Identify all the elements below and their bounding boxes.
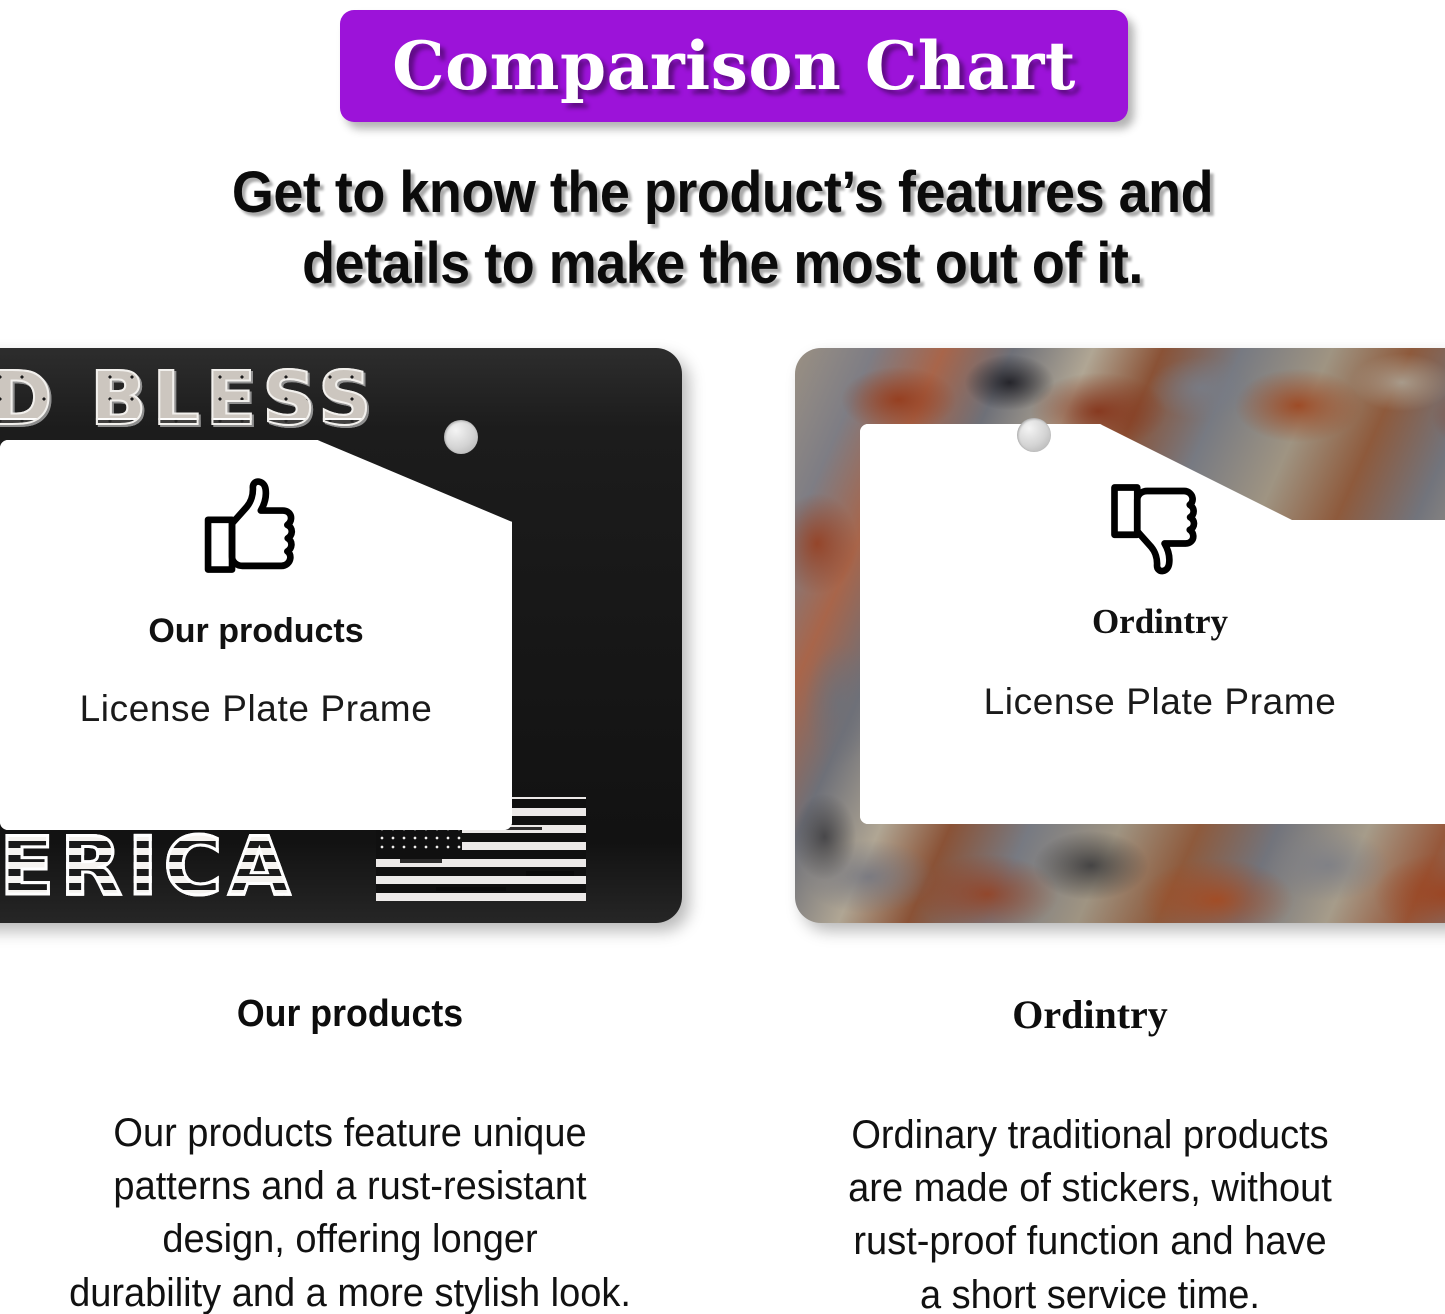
our-product-plate-panel: OD BLESS MERICA Our products xyxy=(0,348,682,923)
page-title: Comparison Chart xyxy=(392,33,1076,99)
plate-window-product-left: License Plate Prame xyxy=(80,690,433,727)
caption-body-left: Our products feature unique patterns and… xyxy=(18,1107,683,1314)
caption-line: are made of stickers, without xyxy=(753,1162,1428,1215)
subtitle-line-2: details to make the most out of it. xyxy=(51,229,1395,300)
thumbs-up-icon xyxy=(197,470,315,588)
comparison-chart-banner: Comparison Chart xyxy=(340,10,1128,122)
flag-scuff xyxy=(400,859,442,863)
plate-window-product-right: License Plate Prame xyxy=(984,683,1337,720)
plate-bottom-lettering: MERICA xyxy=(0,827,296,907)
plate-window-left: Our products License Plate Prame xyxy=(0,440,512,830)
flag-scuff xyxy=(526,871,574,876)
caption-heading-left: Our products xyxy=(21,995,679,1033)
ordinary-product-plate-panel: Ordintry License Plate Prame xyxy=(795,348,1445,923)
license-plate-frame-black: OD BLESS MERICA Our products xyxy=(0,348,682,923)
mounting-hole-icon xyxy=(444,420,478,454)
caption-body-right: Ordinary traditional products are made o… xyxy=(753,1109,1428,1314)
our-products-caption: Our products Our products feature unique… xyxy=(0,995,700,1314)
caption-line: Ordinary traditional products xyxy=(753,1109,1428,1162)
plate-top-lettering: OD BLESS xyxy=(0,362,377,436)
caption-heading-right: Ordintry xyxy=(735,995,1445,1035)
mounting-hole-icon xyxy=(1017,418,1051,452)
flag-scuff xyxy=(436,887,506,891)
thumbs-down-icon xyxy=(1104,470,1216,582)
caption-line: patterns and a rust-resistant xyxy=(18,1160,683,1213)
plate-window-right: Ordintry License Plate Prame xyxy=(860,424,1445,824)
caption-line: a short service time. xyxy=(753,1269,1428,1314)
caption-line: rust-proof function and have xyxy=(753,1215,1428,1268)
license-plate-frame-rusty: Ordintry License Plate Prame xyxy=(795,348,1445,923)
subtitle-line-1: Get to know the product’s features and xyxy=(51,158,1395,229)
caption-line: durability and a more stylish look. xyxy=(18,1267,683,1314)
caption-line: design, offering longer xyxy=(18,1213,683,1266)
plate-window-title-right: Ordintry xyxy=(1092,604,1228,639)
plate-window-title-left: Our products xyxy=(148,614,363,648)
caption-line: Our products feature unique xyxy=(18,1107,683,1160)
ordinary-products-caption: Ordintry Ordinary traditional products a… xyxy=(735,995,1445,1314)
subtitle: Get to know the product’s features and d… xyxy=(51,158,1395,300)
